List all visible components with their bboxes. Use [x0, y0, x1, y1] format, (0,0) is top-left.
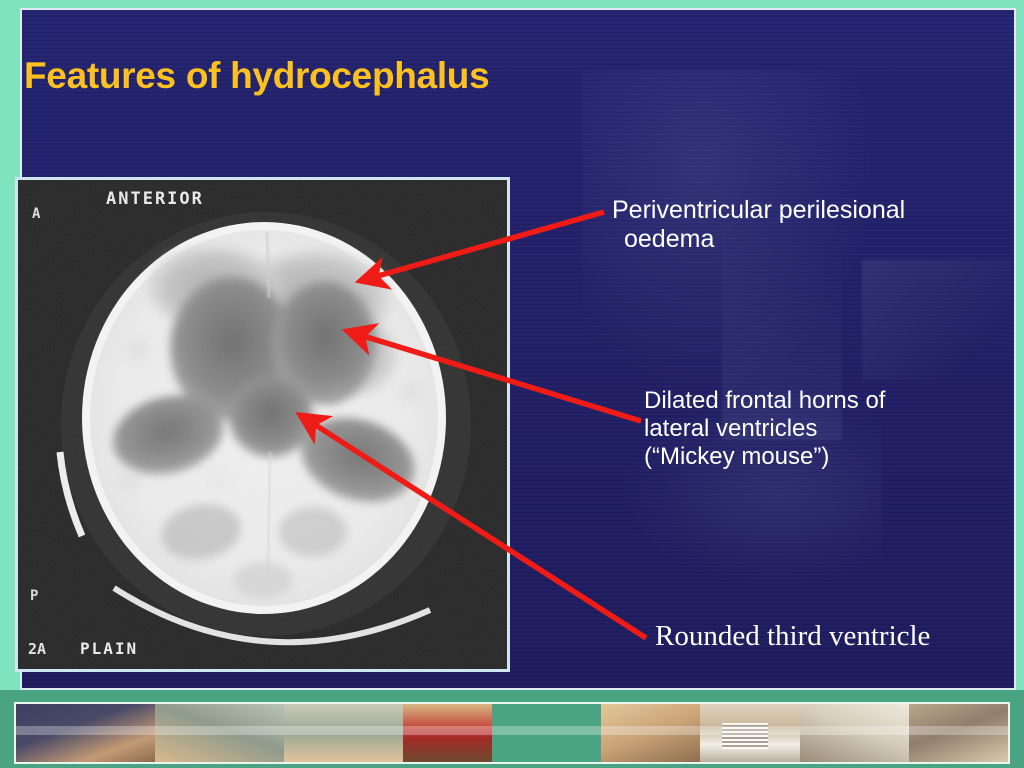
- ct-marker-a: A: [32, 206, 41, 222]
- ct-scan-image: ANTERIOR A P 2A PLAIN: [15, 177, 510, 672]
- annotation-line: Rounded third ventricle: [655, 620, 1024, 654]
- machine-vents: [722, 723, 768, 750]
- annotation-line: (“Mickey mouse”): [644, 443, 1014, 471]
- annotation-line: lateral ventricles: [644, 415, 1014, 443]
- photo-tile: [800, 704, 909, 762]
- ct-marker-2a: 2A: [28, 640, 46, 658]
- photo-tile: [601, 704, 700, 762]
- annotation-line: oedema: [612, 225, 1012, 254]
- photo-tile: [284, 704, 403, 762]
- photo-tile: [909, 704, 1008, 762]
- ct-scan-graphic: ANTERIOR A P 2A PLAIN: [18, 180, 507, 669]
- annotation-line: Periventricular perilesional: [612, 196, 1012, 225]
- ct-marker-left: P: [30, 588, 38, 604]
- photo-tile: [16, 704, 155, 762]
- photo-tile: [700, 704, 799, 762]
- ct-anterior-label: ANTERIOR: [106, 189, 204, 209]
- slide-root: Features of hydrocephalus: [0, 0, 1024, 768]
- photo-tile: [155, 704, 284, 762]
- background-watermark: [862, 260, 1012, 380]
- annotation-dilated-frontal-horns: Dilated frontal horns of lateral ventric…: [644, 387, 1014, 470]
- photo-tile: [403, 704, 492, 762]
- annotation-line: Dilated frontal horns of: [644, 387, 1014, 415]
- photo-tile: [492, 704, 601, 762]
- annotation-rounded-third-ventricle: Rounded third ventricle: [655, 620, 1024, 654]
- annotation-periventricular-oedema: Periventricular perilesional oedema: [612, 196, 1012, 254]
- ct-plain-label: PLAIN: [80, 639, 138, 658]
- page-title: Features of hydrocephalus: [24, 55, 489, 97]
- footer-photo-strip: [14, 702, 1010, 764]
